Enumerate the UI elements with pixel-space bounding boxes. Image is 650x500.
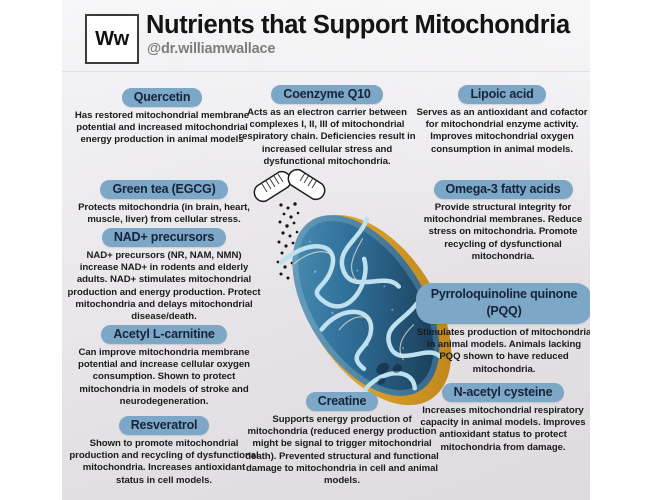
nutrient-body-green-tea-egcg: Protects mitochondria (in brain, heart, …: [74, 202, 254, 226]
nutrient-block-acetyl-l-carnitine: Acetyl L-carnitine Can improve mitochond…: [68, 325, 260, 408]
nutrient-body-n-acetyl-cysteine: Increases mitochondrial respiratory capa…: [414, 405, 590, 454]
nutrient-block-omega-3-fatty-acids: Omega-3 fatty acids Provide structural i…: [414, 180, 590, 263]
nutrient-label-n-acetyl-cysteine: N-acetyl cysteine: [442, 383, 565, 402]
nutrient-label-creatine: Creatine: [306, 392, 378, 411]
page-title: Nutrients that Support Mitochondria: [146, 10, 586, 40]
logo-text: Ww: [95, 28, 129, 51]
nutrient-body-nad-precursors: NAD+ precursors (NR, NAM, NMN) increase …: [66, 250, 262, 323]
logo-box: Ww: [85, 14, 139, 64]
nutrient-body-omega-3-fatty-acids: Provide structural integrity for mitocho…: [414, 202, 590, 263]
nutrient-label-acetyl-l-carnitine: Acetyl L-carnitine: [101, 325, 226, 344]
nutrient-body-quercetin: Has restored mitochondrial membrane pote…: [72, 110, 252, 147]
nutrient-label-pyrroloquinoline-quinone-pqq: Pyrroloquinoline quinone (PQQ): [416, 283, 590, 324]
nutrient-label-lipoic-acid: Lipoic acid: [458, 85, 545, 104]
nutrient-body-coenzyme-q10: Acts as an electron carrier between comp…: [234, 107, 420, 168]
header-divider: [62, 71, 590, 72]
nutrient-body-acetyl-l-carnitine: Can improve mitochondria membrane potent…: [68, 347, 260, 408]
infographic-card: Ww Nutrients that Support Mitochondria @…: [62, 0, 590, 500]
nutrient-body-pyrroloquinoline-quinone-pqq: Stimulates production of mitochondria in…: [416, 327, 590, 376]
nutrient-block-lipoic-acid: Lipoic acid Serves as an antioxidant and…: [412, 85, 590, 156]
nutrient-label-nad-precursors: NAD+ precursors: [102, 228, 226, 247]
nutrient-block-n-acetyl-cysteine: N-acetyl cysteine Increases mitochondria…: [414, 383, 590, 454]
nutrient-block-coenzyme-q10: Coenzyme Q10 Acts as an electron carrier…: [234, 85, 420, 168]
author-handle: @dr.williamwallace: [147, 41, 275, 57]
nutrient-block-pyrroloquinoline-quinone-pqq: Pyrroloquinoline quinone (PQQ) Stimulate…: [416, 283, 590, 376]
nutrient-block-quercetin: Quercetin Has restored mitochondrial mem…: [72, 88, 252, 147]
nutrient-label-resveratrol: Resveratrol: [119, 416, 210, 435]
nutrient-label-green-tea-egcg: Green tea (EGCG): [100, 180, 227, 199]
nutrient-body-lipoic-acid: Serves as an antioxidant and cofactor fo…: [412, 107, 590, 156]
nutrient-block-creatine: Creatine Supports energy production of m…: [244, 392, 440, 487]
nutrient-label-quercetin: Quercetin: [122, 88, 203, 107]
header: Ww Nutrients that Support Mitochondria @…: [62, 0, 590, 72]
nutrient-body-creatine: Supports energy production of mitochondr…: [244, 414, 440, 487]
nutrient-body-resveratrol: Shown to promote mitochondrial productio…: [68, 438, 260, 487]
nutrient-block-green-tea-egcg: Green tea (EGCG) Protects mitochondria (…: [74, 180, 254, 226]
nutrient-block-nad-precursors: NAD+ precursors NAD+ precursors (NR, NAM…: [66, 228, 262, 323]
nutrient-label-coenzyme-q10: Coenzyme Q10: [271, 85, 382, 104]
nutrient-block-resveratrol: Resveratrol Shown to promote mitochondri…: [68, 416, 260, 487]
nutrient-label-omega-3-fatty-acids: Omega-3 fatty acids: [434, 180, 573, 199]
